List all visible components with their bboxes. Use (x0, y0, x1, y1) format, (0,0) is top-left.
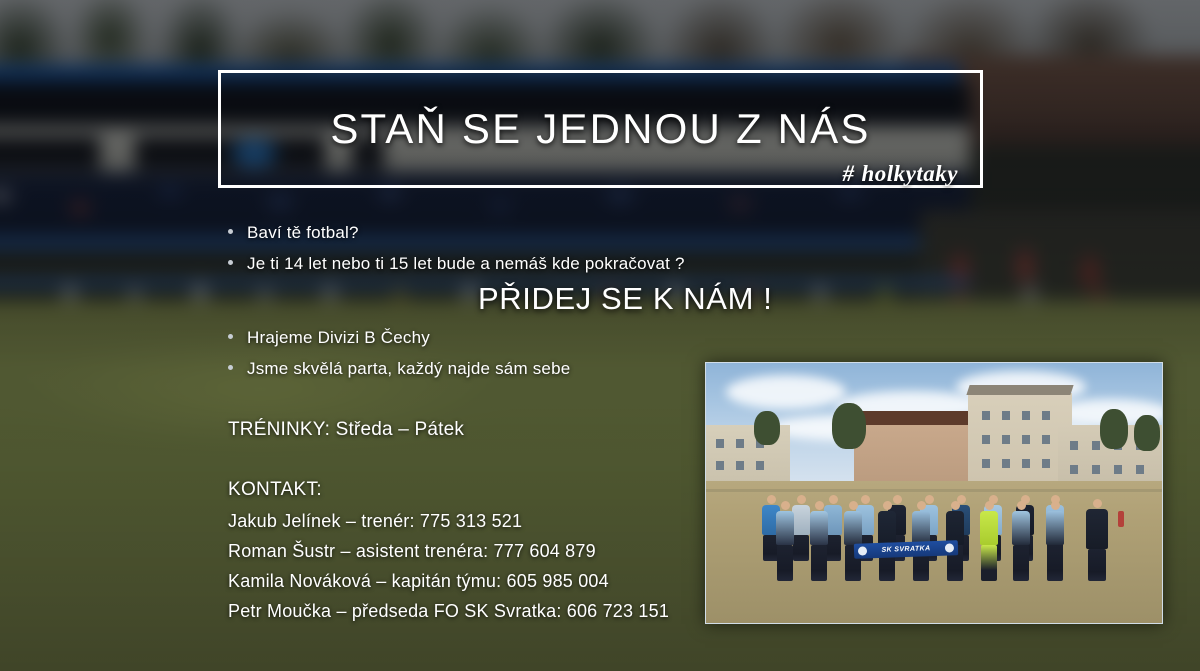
person-legs (1088, 549, 1106, 581)
person-head (951, 501, 960, 510)
window-icon (736, 461, 744, 470)
contact-line-team-captain: Kamila Nováková – kapitán týmu: 605 985 … (228, 571, 609, 592)
window-icon (982, 435, 990, 444)
team-banner-label: SK SVRATKA (881, 545, 930, 554)
person-head (781, 501, 790, 510)
window-icon (1042, 435, 1050, 444)
window-icon (1002, 459, 1010, 468)
person-legs (793, 535, 809, 561)
person-legs (811, 545, 827, 581)
team-photo-distant-player (1118, 511, 1124, 527)
person-torso (878, 511, 896, 545)
window-icon (1092, 441, 1100, 450)
bullet-dot-icon (228, 260, 233, 265)
window-icon (1042, 411, 1050, 420)
team-photo-goalkeeper (980, 501, 998, 581)
person-torso (810, 511, 828, 545)
person-head (1051, 501, 1060, 510)
window-icon (716, 461, 724, 470)
person-torso (980, 511, 998, 545)
window-icon (982, 411, 990, 420)
person-legs (1047, 545, 1063, 581)
bullet-item-4: Jsme skvělá parta, každý najde sám sebe (228, 359, 570, 379)
person-torso (792, 505, 810, 535)
person-torso (912, 511, 930, 545)
person-legs (981, 545, 997, 581)
team-photo-person (810, 501, 828, 581)
window-icon (982, 459, 990, 468)
person-head (849, 501, 858, 510)
club-badge-icon (945, 543, 954, 552)
window-icon (1070, 441, 1078, 450)
bullet-item-1: Baví tě fotbal? (228, 223, 359, 243)
team-photo-person (844, 501, 862, 581)
contact-heading: KONTAKT: (228, 479, 322, 501)
team-photo-person (878, 501, 896, 581)
person-head (917, 501, 926, 510)
contact-line-assistant-coach: Roman Šustr – asistent trenéra: 777 604 … (228, 541, 596, 562)
person-torso (776, 511, 794, 545)
person-head (1017, 501, 1026, 510)
person-head (883, 501, 892, 510)
window-icon (756, 461, 764, 470)
club-badge-icon (858, 546, 867, 555)
window-icon (1136, 465, 1144, 474)
bullet-dot-icon (228, 365, 233, 370)
window-icon (1022, 459, 1030, 468)
window-icon (1114, 465, 1122, 474)
bullet-item-1-label: Baví tě fotbal? (247, 223, 359, 243)
team-photo-person (792, 495, 810, 561)
team-photo-person (1012, 501, 1030, 581)
person-torso (1012, 511, 1030, 545)
team-photo-coach (1086, 499, 1108, 581)
bullet-item-4-label: Jsme skvělá parta, každý najde sám sebe (247, 359, 570, 379)
bullet-item-2-label: Je ti 14 let nebo ti 15 let bude a nemáš… (247, 254, 685, 274)
window-icon (1002, 435, 1010, 444)
window-icon (1042, 459, 1050, 468)
tree-icon (1100, 409, 1128, 449)
bullet-dot-icon (228, 229, 233, 234)
contact-line-coach: Jakub Jelínek – trenér: 775 313 521 (228, 511, 522, 532)
team-photo-building-main (968, 393, 1072, 491)
person-head (985, 501, 994, 510)
trainings-info: TRÉNINKY: Středa – Pátek (228, 419, 464, 441)
tree-icon (754, 411, 780, 445)
person-legs (777, 545, 793, 581)
window-icon (1002, 411, 1010, 420)
person-torso (1046, 511, 1064, 545)
window-icon (1070, 465, 1078, 474)
person-head (815, 501, 824, 510)
window-icon (1092, 465, 1100, 474)
person-head (797, 495, 806, 504)
person-torso (844, 511, 862, 545)
person-torso (1086, 509, 1108, 549)
bullet-item-2: Je ti 14 let nebo ti 15 let bude a nemáš… (228, 254, 685, 274)
person-legs (1013, 545, 1029, 581)
call-to-action: PŘIDEJ SE K NÁM ! (478, 281, 772, 317)
window-icon (716, 439, 724, 448)
person-head (829, 495, 838, 504)
person-head (1093, 499, 1102, 508)
tree-icon (832, 403, 866, 449)
poster-root: STAŇ SE JEDNOU Z NÁS #holkytaky Baví tě … (0, 0, 1200, 671)
contact-line-chairman: Petr Moučka – předseda FO SK Svratka: 60… (228, 601, 669, 622)
bullet-dot-icon (228, 334, 233, 339)
bullet-item-3-label: Hrajeme Divizi B Čechy (247, 328, 430, 348)
window-icon (1022, 435, 1030, 444)
window-icon (1022, 411, 1030, 420)
team-photo-person (776, 501, 794, 581)
team-photo: SK SVRATKA (705, 362, 1163, 624)
window-icon (736, 439, 744, 448)
bullet-item-3: Hrajeme Divizi B Čechy (228, 328, 430, 348)
person-head (767, 495, 776, 504)
cloud-icon (726, 375, 846, 409)
team-photo-person (1046, 501, 1064, 581)
tree-icon (1134, 415, 1160, 451)
team-photo-pitch-line (706, 489, 1162, 492)
